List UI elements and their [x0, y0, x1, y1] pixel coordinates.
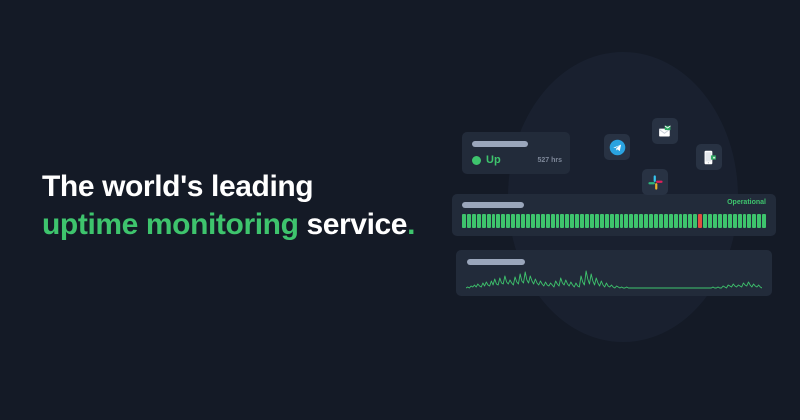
uptime-segment: [536, 214, 540, 228]
uptime-segment: [674, 214, 678, 228]
status-label: Up: [486, 154, 501, 166]
uptime-segment: [669, 214, 673, 228]
uptime-segment: [472, 214, 476, 228]
response-time-card[interactable]: [456, 250, 772, 296]
uptime-segment: [482, 214, 486, 228]
uptime-segment: [708, 214, 712, 228]
uptime-segment: [556, 214, 560, 228]
uptime-segment: [575, 214, 579, 228]
status-card[interactable]: Up 527 hrs: [462, 132, 570, 174]
uptime-card[interactable]: Operational: [452, 194, 776, 236]
slack-icon[interactable]: [642, 169, 668, 195]
email-icon[interactable]: [652, 118, 678, 144]
uptime-segment: [757, 214, 761, 228]
uptime-segment: [595, 214, 599, 228]
uptime-segment: [733, 214, 737, 228]
uptime-segment: [590, 214, 594, 228]
uptime-segment: [728, 214, 732, 228]
headline: The world's leading uptime monitoring se…: [42, 168, 442, 244]
uptime-segment: [570, 214, 574, 228]
uptime-segment: [516, 214, 520, 228]
headline-line-2: uptime monitoring service.: [42, 206, 442, 244]
uptime-segment: [585, 214, 589, 228]
uptime-segment: [649, 214, 653, 228]
uptime-segment: [526, 214, 530, 228]
uptime-segment: [723, 214, 727, 228]
uptime-segment: [747, 214, 751, 228]
uptime-segment: [738, 214, 742, 228]
uptime-segment: [492, 214, 496, 228]
uptime-segment: [679, 214, 683, 228]
uptime-segment: [693, 214, 697, 228]
uptime-segment: [713, 214, 717, 228]
card-title-placeholder: [462, 202, 524, 208]
hero-banner: The world's leading uptime monitoring se…: [0, 0, 800, 420]
headline-line-1: The world's leading: [42, 168, 442, 206]
uptime-segment: [654, 214, 658, 228]
uptime-segment: [521, 214, 525, 228]
uptime-segment: [703, 214, 707, 228]
uptime-segment: [610, 214, 614, 228]
uptime-segment: [752, 214, 756, 228]
card-title-placeholder: [467, 259, 525, 265]
uptime-segment: [762, 214, 766, 228]
uptime-segment: [698, 214, 702, 228]
uptime-segment: [624, 214, 628, 228]
headline-highlight: uptime monitoring: [42, 208, 299, 241]
uptime-segment: [501, 214, 505, 228]
uptime-segment: [462, 214, 466, 228]
uptime-segment: [620, 214, 624, 228]
uptime-segment: [639, 214, 643, 228]
uptime-segment: [531, 214, 535, 228]
headline-tail: service: [299, 208, 408, 241]
uptime-segment: [743, 214, 747, 228]
status-row: Up 527 hrs: [472, 154, 562, 166]
uptime-segment: [644, 214, 648, 228]
headline-line-1-text: The world's leading: [42, 170, 313, 203]
uptime-segment: [506, 214, 510, 228]
uptime-segment: [634, 214, 638, 228]
uptime-segment: [600, 214, 604, 228]
uptime-segment: [683, 214, 687, 228]
headline-period: .: [407, 208, 415, 241]
uptime-segment: [541, 214, 545, 228]
telegram-icon[interactable]: [604, 134, 630, 160]
uptime-segment: [546, 214, 550, 228]
response-time-sparkline: [466, 269, 762, 291]
uptime-segment: [605, 214, 609, 228]
uptime-segment: [664, 214, 668, 228]
status-dot-icon: [472, 156, 481, 165]
uptime-segment: [580, 214, 584, 228]
uptime-segment: [659, 214, 663, 228]
uptime-segment: [718, 214, 722, 228]
sms-icon[interactable]: [696, 144, 722, 170]
uptime-segment: [688, 214, 692, 228]
card-title-placeholder: [472, 141, 528, 147]
uptime-segment: [487, 214, 491, 228]
uptime-bar-chart: [462, 214, 766, 228]
uptime-segment: [629, 214, 633, 228]
uptime-segment: [551, 214, 555, 228]
uptime-segment: [511, 214, 515, 228]
status-duration: 527 hrs: [537, 157, 562, 164]
uptime-segment: [615, 214, 619, 228]
uptime-segment: [560, 214, 564, 228]
uptime-segment: [565, 214, 569, 228]
uptime-segment: [477, 214, 481, 228]
uptime-segment: [496, 214, 500, 228]
uptime-segment: [467, 214, 471, 228]
operational-label: Operational: [727, 199, 766, 206]
